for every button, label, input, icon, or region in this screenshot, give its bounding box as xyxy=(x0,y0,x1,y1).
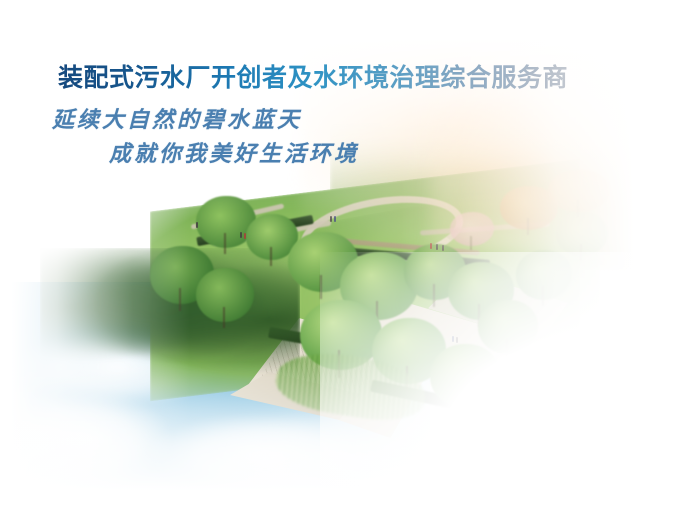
subtitle-line-1: 延续大自然的碧水蓝天 xyxy=(52,103,359,137)
person xyxy=(196,222,198,228)
subtitle-block: 延续大自然的碧水蓝天 成就你我美好生活环境 xyxy=(52,103,359,171)
person xyxy=(244,233,246,239)
tree xyxy=(196,268,254,322)
person xyxy=(240,232,242,238)
headline: 装配式污水厂开创者及水环境治理综合服务商 xyxy=(58,58,568,94)
subtitle-line-2: 成就你我美好生活环境 xyxy=(52,137,359,171)
poster-canvas: 装配式污水厂开创者及水环境治理综合服务商 延续大自然的碧水蓝天 成就你我美好生活… xyxy=(0,0,700,512)
fade-corner xyxy=(320,252,700,512)
